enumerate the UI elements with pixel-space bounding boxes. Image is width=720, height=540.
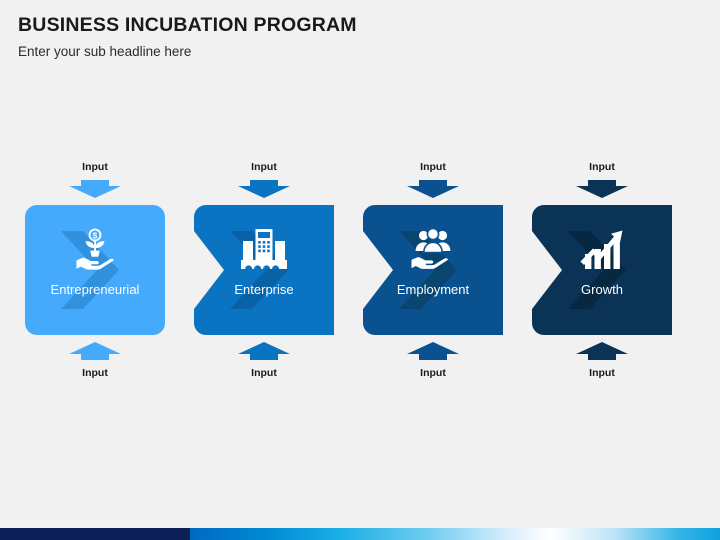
- stage-body[interactable]: Growth: [532, 205, 702, 335]
- process-diagram: Input $: [0, 150, 720, 390]
- input-arrow-down-icon: [363, 180, 503, 198]
- footer-accent-gradient: [190, 528, 720, 540]
- stage-entrepreneurial[interactable]: Input $: [25, 150, 195, 390]
- input-arrow-down-icon: [194, 180, 334, 198]
- stage-label: Growth: [532, 283, 672, 296]
- stage-top-input-label: Input: [194, 162, 334, 173]
- stage-label: Entrepreneurial: [25, 283, 165, 296]
- growth-bar-chart-arrow-icon: [532, 223, 672, 275]
- stage-growth[interactable]: Input Growth: [532, 150, 702, 390]
- svg-text:$: $: [93, 231, 98, 241]
- hand-holding-money-plant-icon: $: [25, 223, 165, 275]
- office-building-icon: [194, 223, 334, 275]
- stage-body[interactable]: $ Entrepreneurial: [25, 205, 195, 335]
- input-arrow-down-icon: [532, 180, 672, 198]
- page-title: BUSINESS INCUBATION PROGRAM: [18, 14, 678, 36]
- input-arrow-up-icon: [194, 342, 334, 360]
- stage-enterprise[interactable]: Input: [194, 150, 364, 390]
- stage-top-input-label: Input: [363, 162, 503, 173]
- footer-accent-bar: [0, 528, 720, 540]
- input-arrow-up-icon: [363, 342, 503, 360]
- stage-body[interactable]: Employment: [363, 205, 533, 335]
- stage-top-input-label: Input: [25, 162, 165, 173]
- stage-label: Enterprise: [194, 283, 334, 296]
- stage-bottom-input-label: Input: [25, 368, 165, 379]
- header: BUSINESS INCUBATION PROGRAM Enter your s…: [18, 14, 678, 60]
- stage-body[interactable]: Enterprise: [194, 205, 364, 335]
- input-arrow-up-icon: [25, 342, 165, 360]
- input-arrow-up-icon: [532, 342, 672, 360]
- stage-employment[interactable]: Input: [363, 150, 533, 390]
- input-arrow-down-icon: [25, 180, 165, 198]
- stage-bottom-input-label: Input: [532, 368, 672, 379]
- footer-accent-navy: [0, 528, 190, 540]
- stage-top-input-label: Input: [532, 162, 672, 173]
- stage-bottom-input-label: Input: [363, 368, 503, 379]
- stage-label: Employment: [363, 283, 503, 296]
- stage-bottom-input-label: Input: [194, 368, 334, 379]
- page-subtitle: Enter your sub headline here: [18, 44, 678, 60]
- hand-holding-people-icon: [363, 223, 503, 275]
